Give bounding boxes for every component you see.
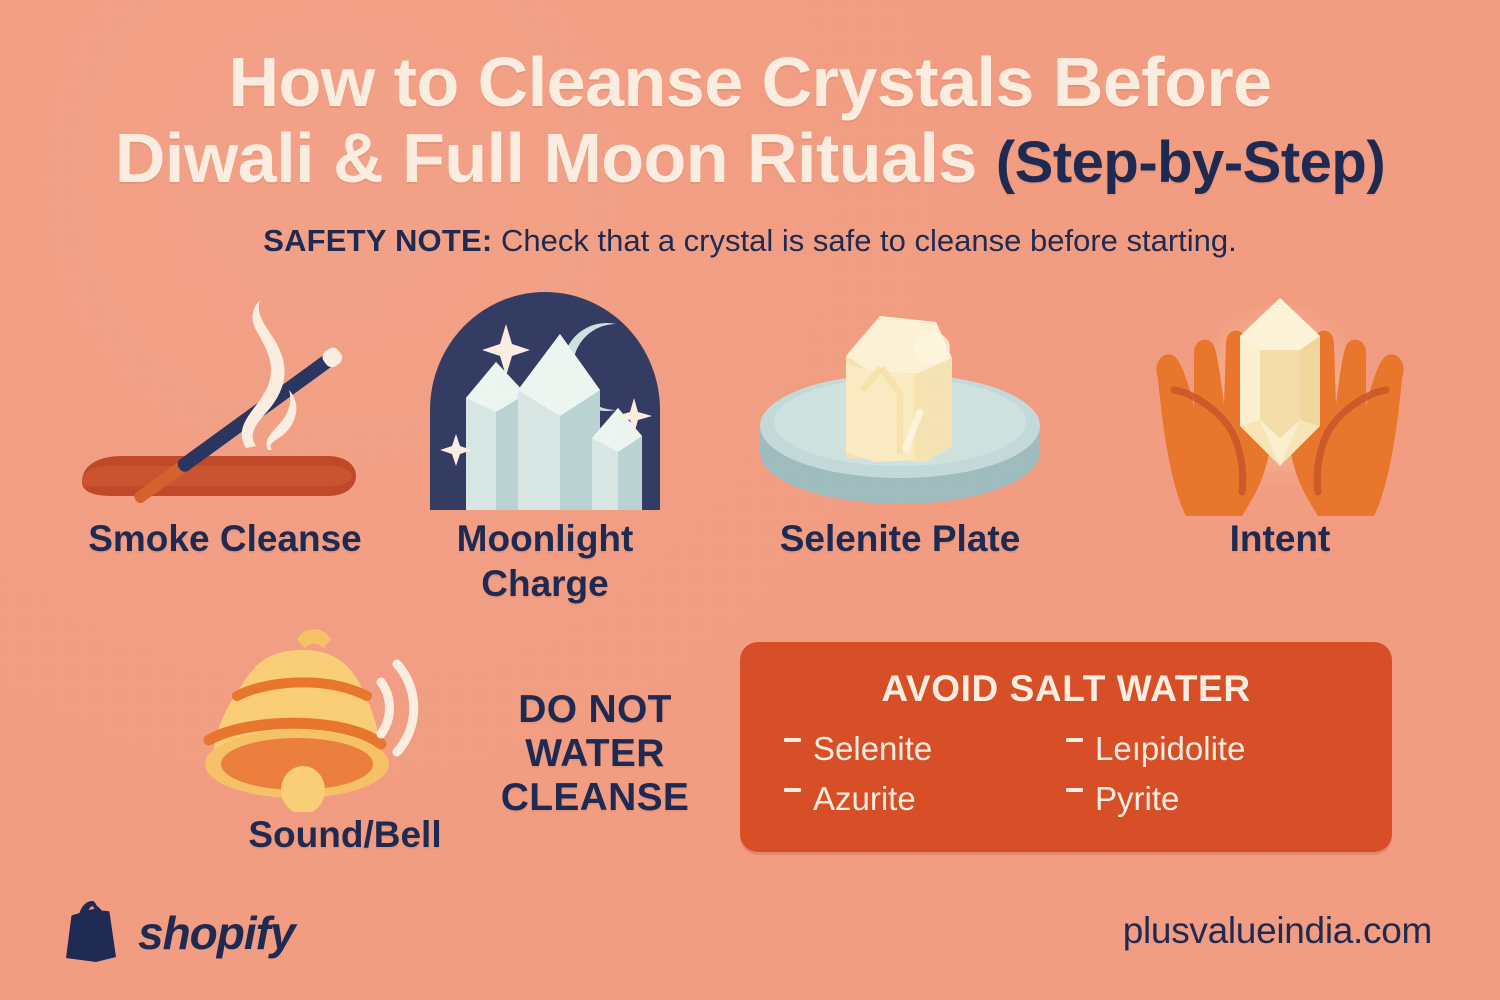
method-moonlight-charge: Moonlight Charge (395, 286, 695, 606)
shopify-bag-icon (62, 898, 120, 967)
method-sound-bell: Sound/Bell (185, 612, 505, 857)
avoid-item-label: Pyrite (1095, 774, 1179, 824)
method-label-sound-bell: Sound/Bell (185, 812, 505, 857)
safety-note: SAFETY NOTE: Check that a crystal is saf… (0, 223, 1500, 259)
methods-row-primary: Smoke Cleanse (0, 286, 1500, 626)
safety-note-text: Check that a crystal is safe to cleanse … (501, 223, 1237, 258)
avoid-list-right-column: Leıpidolite Pyrite (1066, 724, 1348, 824)
method-label-intent: Intent (1090, 516, 1470, 561)
method-intent: Intent (1090, 286, 1470, 561)
header: How to Cleanse Crystals Before Diwali & … (0, 0, 1500, 259)
dash-bullet-icon (784, 738, 801, 742)
page-title: How to Cleanse Crystals Before Diwali & … (0, 0, 1500, 201)
shopify-brand: shopify (62, 898, 295, 967)
footer: shopify plusvalueindia.com (0, 880, 1500, 1000)
title-line-2: Diwali & Full Moon Rituals (115, 119, 977, 197)
method-smoke-cleanse: Smoke Cleanse (30, 286, 420, 561)
dash-bullet-icon (1066, 738, 1083, 742)
avoid-item-label: Leıpidolite (1095, 724, 1245, 774)
avoid-list-item: Leıpidolite (1066, 724, 1348, 774)
hands-holding-crystal-icon (1130, 286, 1430, 516)
safety-note-label: SAFETY NOTE: (263, 223, 492, 258)
avoid-salt-water-title: AVOID SALT WATER (740, 642, 1392, 710)
infographic-poster: How to Cleanse Crystals Before Diwali & … (0, 0, 1500, 1000)
moon-crystals-icon (420, 286, 670, 516)
avoid-list-item: Pyrite (1066, 774, 1348, 824)
site-url: plusvalueindia.com (1123, 910, 1432, 952)
avoid-item-label: Selenite (813, 724, 932, 774)
avoid-list-item: Azurite (784, 774, 1066, 824)
crystal-on-plate-icon (740, 286, 1060, 516)
title-line-2-wrap: Diwali & Full Moon Rituals (Step-by-Step… (0, 120, 1500, 201)
title-line-1: How to Cleanse Crystals Before (228, 43, 1271, 121)
dash-bullet-icon (1066, 788, 1083, 792)
method-label-smoke-cleanse: Smoke Cleanse (30, 516, 420, 561)
avoid-list: Selenite Azurite Leıpidolite Pyrite (740, 724, 1392, 824)
avoid-list-left-column: Selenite Azurite (784, 724, 1066, 824)
shopify-wordmark: shopify (138, 906, 295, 960)
title-suffix: (Step-by-Step) (996, 130, 1385, 195)
bell-icon (185, 612, 425, 812)
avoid-list-item: Selenite (784, 724, 1066, 774)
do-not-water-cleanse-warning: DO NOT WATER CLEANSE (470, 688, 720, 820)
method-selenite-plate: Selenite Plate (700, 286, 1100, 561)
dash-bullet-icon (784, 788, 801, 792)
avoid-salt-water-box: AVOID SALT WATER Selenite Azurite Leıpid… (740, 642, 1392, 852)
method-label-selenite-plate: Selenite Plate (700, 516, 1100, 561)
incense-stick-icon (60, 286, 390, 516)
avoid-item-label: Azurite (813, 774, 916, 824)
method-label-moonlight-charge: Moonlight Charge (395, 516, 695, 606)
